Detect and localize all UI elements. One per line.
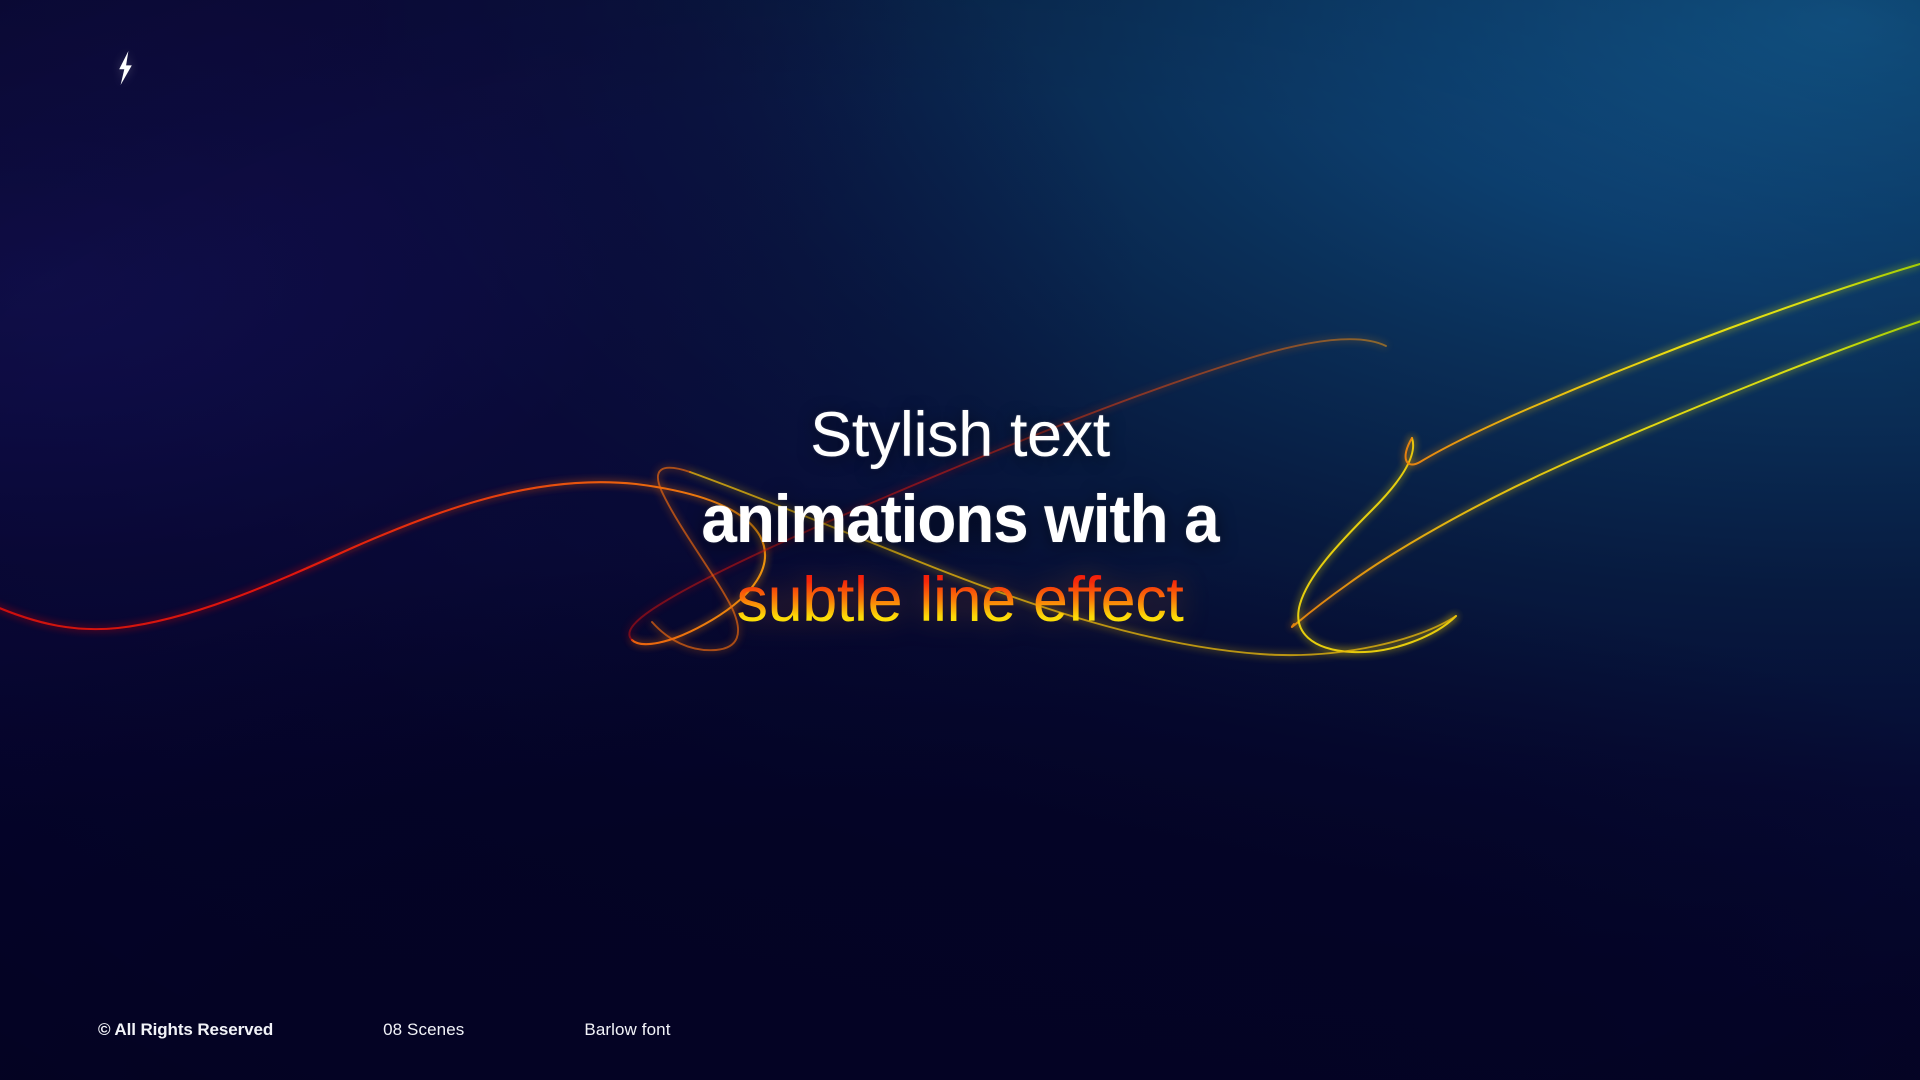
headline-line-3: subtle line effect [0,567,1920,634]
footer-bar: © All Rights Reserved 08 Scenes Barlow f… [98,1020,671,1040]
brand-logo[interactable] [108,48,142,88]
headline-line-1: Stylish text [0,402,1920,469]
headline-line-2: animations with a [58,483,1863,555]
presentation-slide: Stylish text animations with a subtle li… [0,0,1920,1080]
lightning-bolt-icon [115,51,135,85]
footer-copyright: © All Rights Reserved [98,1020,273,1040]
headline-block: Stylish text animations with a subtle li… [0,402,1920,634]
footer-scene-count: 08 Scenes [383,1020,464,1040]
footer-font-note: Barlow font [584,1020,670,1040]
